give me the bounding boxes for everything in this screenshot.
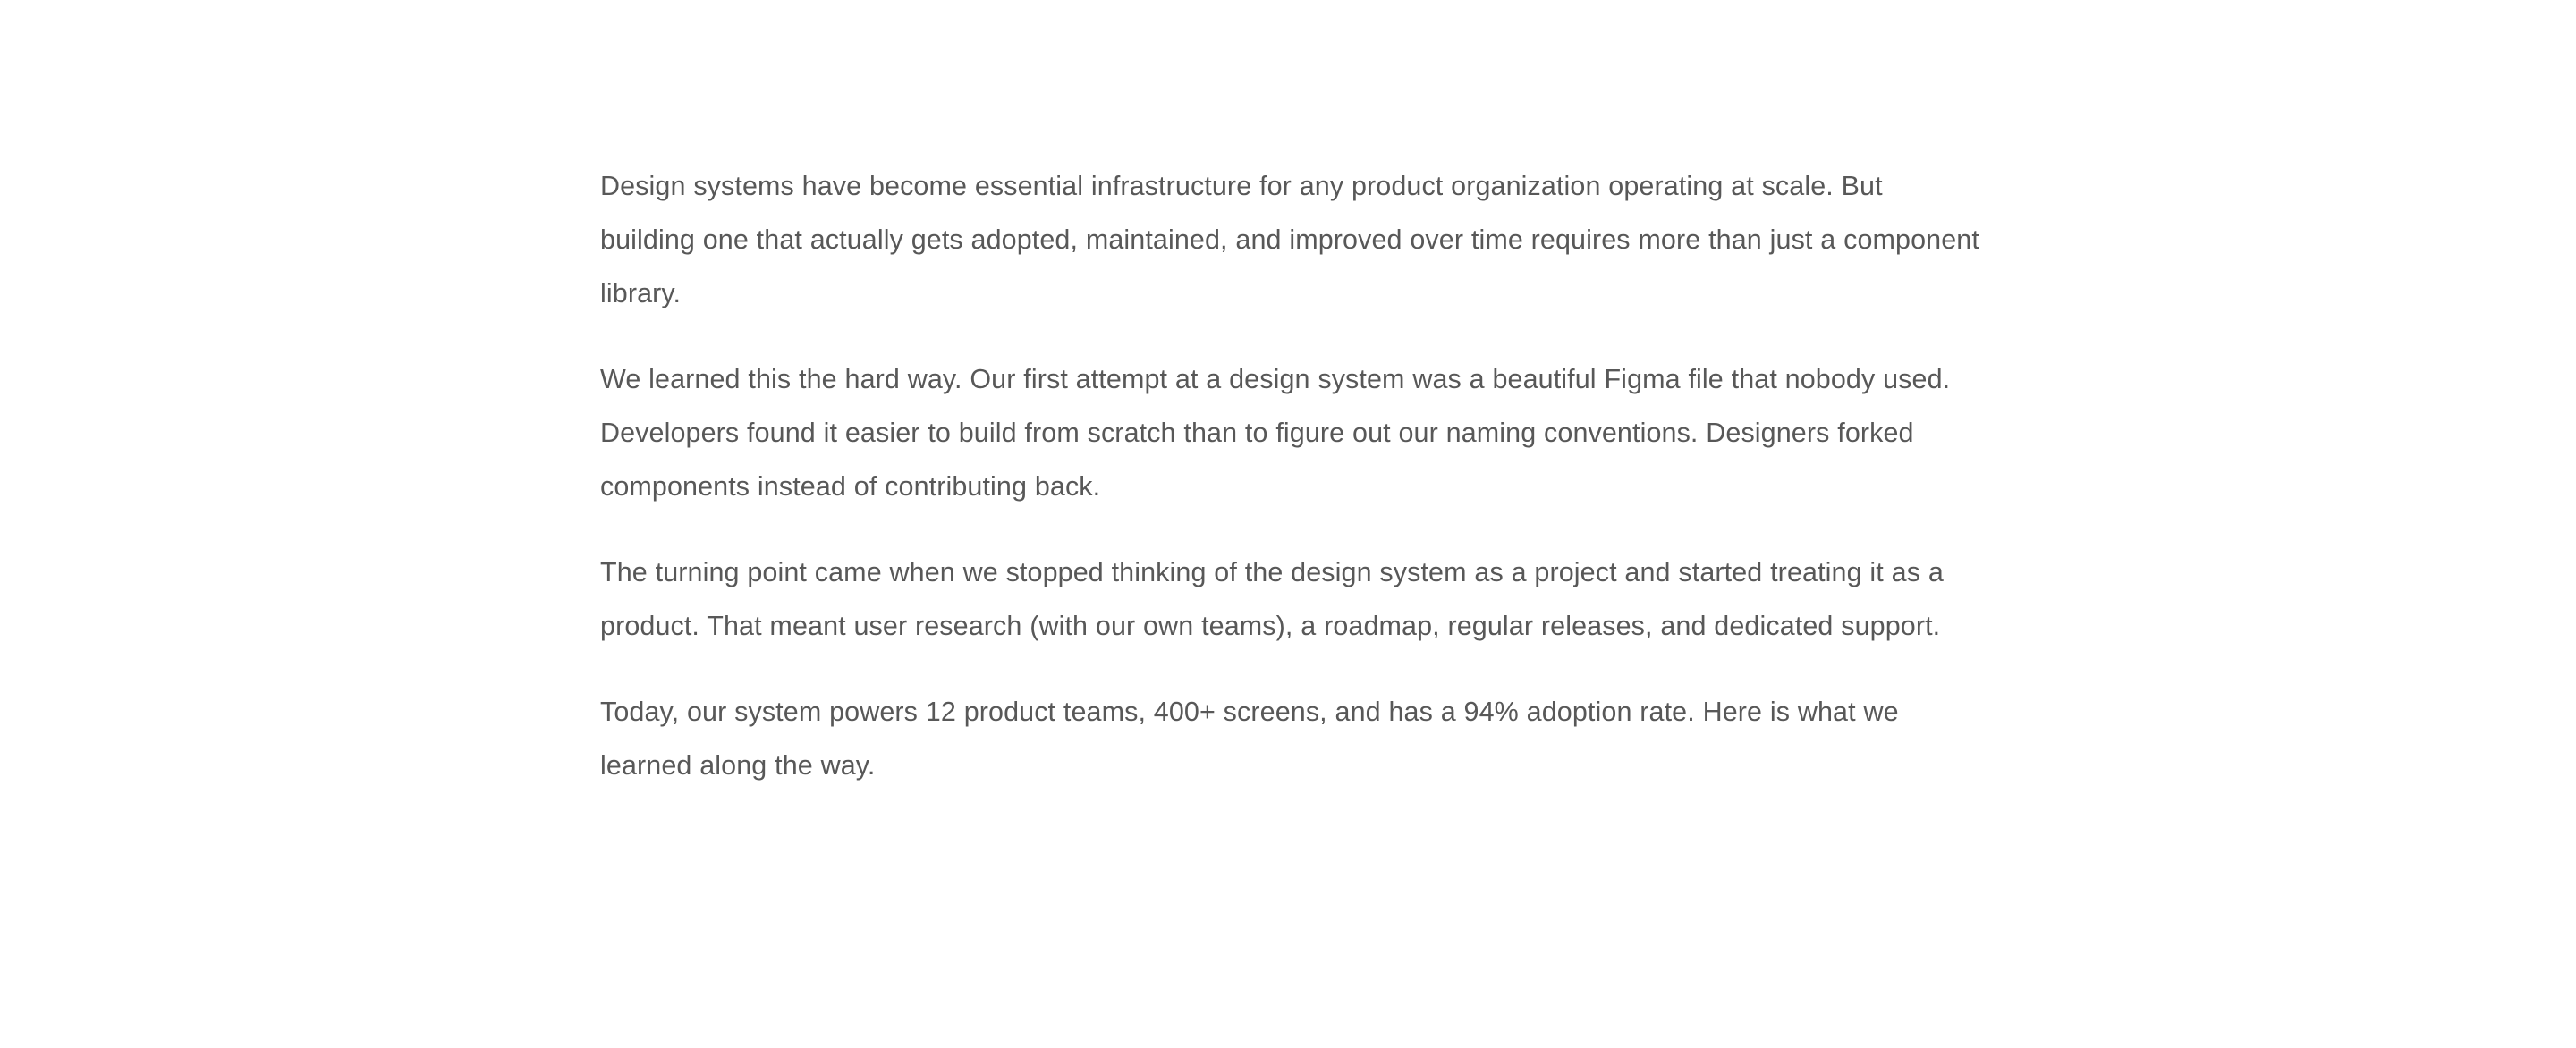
article-paragraph-3: The turning point came when we stopped t… bbox=[600, 545, 1985, 653]
article-paragraph-4: Today, our system powers 12 product team… bbox=[600, 685, 1985, 792]
page-root: Design systems have become essential inf… bbox=[0, 0, 2576, 1048]
article-paragraph-1: Design systems have become essential inf… bbox=[600, 159, 1985, 320]
article-body: Design systems have become essential inf… bbox=[600, 159, 1985, 792]
article-paragraph-2: We learned this the hard way. Our first … bbox=[600, 352, 1985, 513]
